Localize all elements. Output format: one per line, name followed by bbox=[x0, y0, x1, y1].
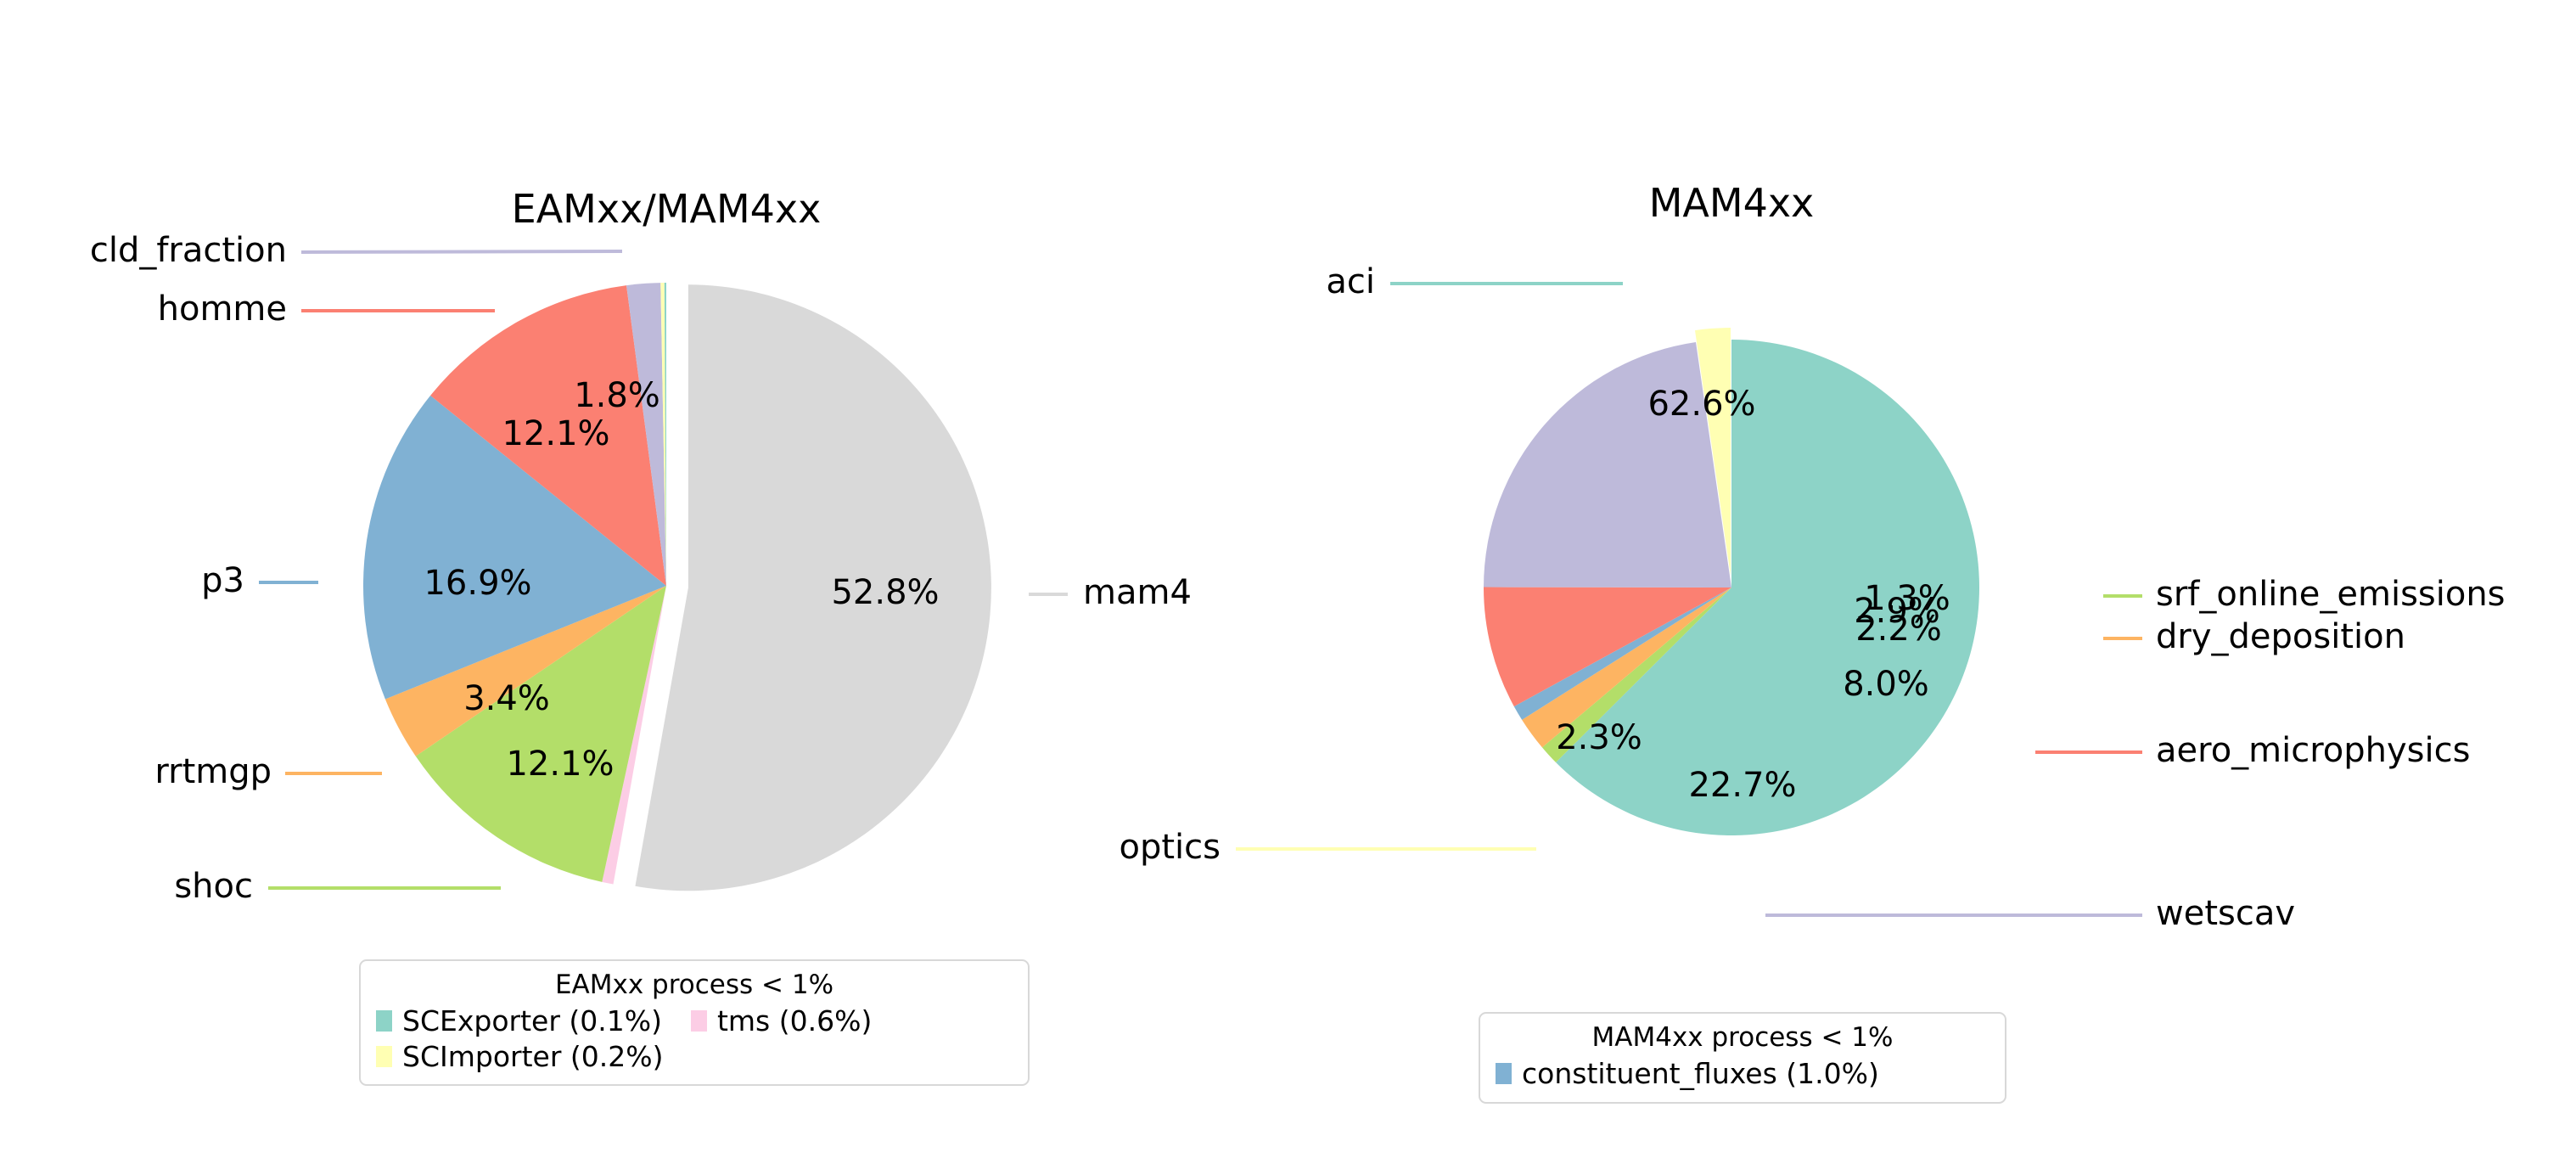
legend-item-label: SCImporter (0.2%) bbox=[402, 1039, 663, 1075]
legend-item[interactable]: tms (0.6%) bbox=[691, 1004, 872, 1039]
wedge-label-mam4: mam4 bbox=[1083, 573, 1192, 612]
wedge-label-aci: aci bbox=[1326, 262, 1375, 301]
right-legend-entries: constituent_fluxes (1.0%) bbox=[1480, 1056, 2005, 1102]
legend-item-label: constituent_fluxes (1.0%) bbox=[1522, 1056, 1879, 1092]
legend-row: SCExporter (0.1%)tms (0.6%) bbox=[376, 1004, 1013, 1039]
wedge-label-wetscav: wetscav bbox=[2156, 894, 2295, 933]
leader-line-cld_fraction bbox=[301, 251, 622, 252]
right-legend-title: MAM4xx process < 1% bbox=[1480, 1014, 2005, 1056]
wedge-label-srf_online_emissions: srf_online_emissions bbox=[2156, 575, 2506, 614]
wedge-label-dry_deposition: dry_deposition bbox=[2156, 617, 2405, 656]
left-legend-entries: SCExporter (0.1%)tms (0.6%)SCImporter (0… bbox=[361, 1004, 1028, 1084]
legend-row: SCImporter (0.2%) bbox=[376, 1039, 1013, 1075]
wedge-label-shoc: shoc bbox=[174, 867, 253, 906]
figure-canvas: 52.8%12.1%1.8%16.9%3.4%12.1% cld_fractio… bbox=[0, 0, 2576, 1175]
pct-label-aci: 62.6% bbox=[1647, 385, 1755, 424]
pct-label-p3: 16.9% bbox=[424, 564, 531, 603]
legend-item[interactable]: SCExporter (0.1%) bbox=[376, 1004, 662, 1039]
wedge-label-optics: optics bbox=[1120, 828, 1221, 867]
left-legend: EAMxx process < 1% SCExporter (0.1%)tms … bbox=[359, 959, 1030, 1086]
right-pie-group: 62.6%1.3%2.9%2.2%8.0%22.7%2.3% acisrf_on… bbox=[1120, 180, 2506, 933]
legend-item-label: tms (0.6%) bbox=[717, 1004, 872, 1039]
wedge-label-p3: p3 bbox=[201, 561, 244, 600]
legend-row: constituent_fluxes (1.0%) bbox=[1496, 1056, 1990, 1092]
legend-swatch-icon bbox=[376, 1046, 392, 1067]
wedge-label-homme: homme bbox=[158, 290, 287, 329]
wedge-label-rrtmgp: rrtmgp bbox=[154, 752, 272, 791]
right-legend: MAM4xx process < 1% constituent_fluxes (… bbox=[1479, 1012, 2006, 1104]
right-pie-title: MAM4xx bbox=[1649, 180, 1815, 226]
wedge-label-cld_fraction: cld_fraction bbox=[90, 231, 287, 270]
pct-label-shoc: 12.1% bbox=[506, 745, 614, 784]
pct-label-aero_microphysics: 8.0% bbox=[1843, 665, 1929, 704]
left-pie-title: EAMxx/MAM4xx bbox=[512, 186, 822, 232]
legend-item[interactable]: constituent_fluxes (1.0%) bbox=[1496, 1056, 1879, 1092]
pct-label-optics: 2.3% bbox=[1556, 718, 1642, 757]
pct-label-wetscav: 22.7% bbox=[1688, 766, 1796, 805]
legend-swatch-icon bbox=[691, 1010, 707, 1032]
pie-wedge-wetscav[interactable] bbox=[1484, 342, 1731, 587]
left-pie-group: 52.8%12.1%1.8%16.9%3.4%12.1% cld_fractio… bbox=[90, 186, 1192, 906]
legend-swatch-icon bbox=[376, 1010, 392, 1032]
left-legend-title: EAMxx process < 1% bbox=[361, 961, 1028, 1004]
pct-label-rrtmgp: 3.4% bbox=[463, 679, 550, 718]
pct-label-cld_fraction: 1.8% bbox=[574, 376, 660, 415]
legend-item[interactable]: SCImporter (0.2%) bbox=[376, 1039, 663, 1075]
pct-label-homme: 12.1% bbox=[502, 414, 609, 453]
wedge-label-aero_microphysics: aero_microphysics bbox=[2156, 731, 2470, 770]
legend-swatch-icon bbox=[1496, 1063, 1512, 1084]
legend-item-label: SCExporter (0.1%) bbox=[402, 1004, 662, 1039]
pct-label-dry_deposition: 2.2% bbox=[1855, 610, 1942, 649]
pct-label-mam4: 52.8% bbox=[831, 573, 939, 612]
